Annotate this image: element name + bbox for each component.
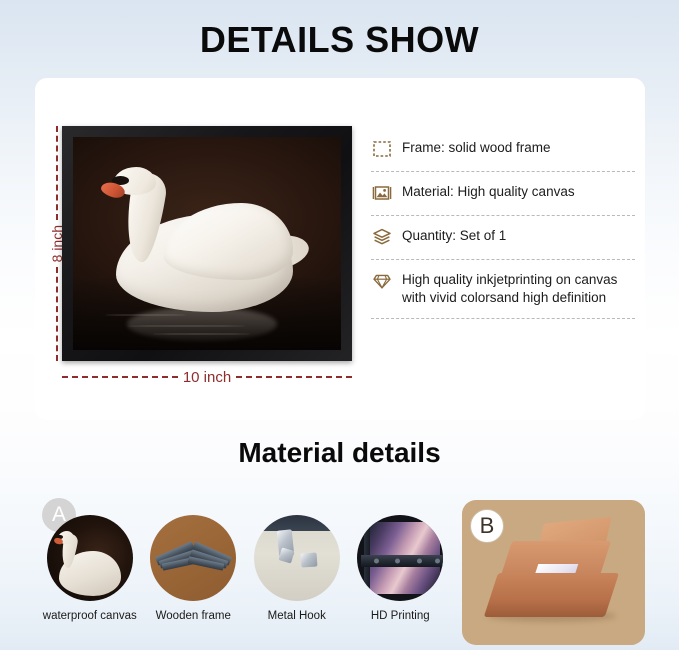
materials-row: waterproof canvas Wooden frame Metal Hoo…: [40, 515, 450, 622]
image-icon: [371, 182, 393, 204]
frame-icon: [371, 138, 393, 160]
spec-text-material: Material: High quality canvas: [402, 181, 575, 201]
framed-artwork: [62, 126, 352, 361]
spec-text-printing: High quality inkjetprinting on canvas wi…: [402, 269, 635, 307]
hd-screw: [417, 558, 422, 563]
metal-hook-thumb: [254, 515, 340, 601]
height-dash-top: [56, 126, 58, 220]
spec-text-frame: Frame: solid wood frame: [402, 137, 551, 157]
spec-row-material: Material: High quality canvas: [371, 172, 635, 216]
hd-print-bar: [361, 555, 444, 567]
hd-screw: [435, 558, 440, 563]
swan-wing: [164, 203, 293, 280]
thumb-swan-beak: [53, 537, 63, 545]
detail-card: 8 inch 10 inch: [35, 78, 645, 420]
width-dash-left: [62, 376, 178, 378]
material-label-metal-hook: Metal Hook: [268, 610, 326, 622]
box-base: [484, 573, 619, 617]
canvas-swan-thumb: [47, 515, 133, 601]
hook-wall-band: [254, 515, 340, 531]
material-section-title: Material details: [0, 437, 679, 469]
hook-piece: [278, 548, 294, 564]
material-item-canvas[interactable]: waterproof canvas: [40, 515, 140, 622]
material-item-wooden-frame[interactable]: Wooden frame: [144, 515, 244, 622]
wooden-frame-thumb: [150, 515, 236, 601]
material-label-canvas: waterproof canvas: [43, 610, 137, 622]
swan-painting-image: [73, 137, 341, 350]
spec-row-quantity: Quantity: Set of 1: [371, 216, 635, 260]
spec-row-printing: High quality inkjetprinting on canvas wi…: [371, 260, 635, 319]
width-label: 10 inch: [178, 369, 236, 386]
height-dash-bottom: [56, 267, 58, 361]
hd-screw: [374, 558, 379, 563]
artwork-zone: 8 inch 10 inch: [35, 78, 365, 420]
diamond-icon: [371, 270, 393, 292]
hd-printing-thumb: [357, 515, 443, 601]
spec-row-frame: Frame: solid wood frame: [371, 128, 635, 172]
width-dash-right: [236, 376, 352, 378]
badge-b: B: [470, 509, 504, 543]
layers-icon: [371, 226, 393, 248]
material-label-wooden-frame: Wooden frame: [156, 610, 231, 622]
spec-text-quantity: Quantity: Set of 1: [402, 225, 506, 245]
material-item-metal-hook[interactable]: Metal Hook: [247, 515, 347, 622]
hd-screw: [395, 558, 400, 563]
spec-list: Frame: solid wood frame Material: High q…: [371, 128, 635, 319]
material-label-hd-printing: HD Printing: [371, 610, 430, 622]
page-title: DETAILS SHOW: [0, 0, 679, 61]
hook-piece: [301, 552, 318, 567]
width-measure: 10 inch: [62, 366, 352, 388]
material-item-hd-printing[interactable]: HD Printing: [351, 515, 451, 622]
